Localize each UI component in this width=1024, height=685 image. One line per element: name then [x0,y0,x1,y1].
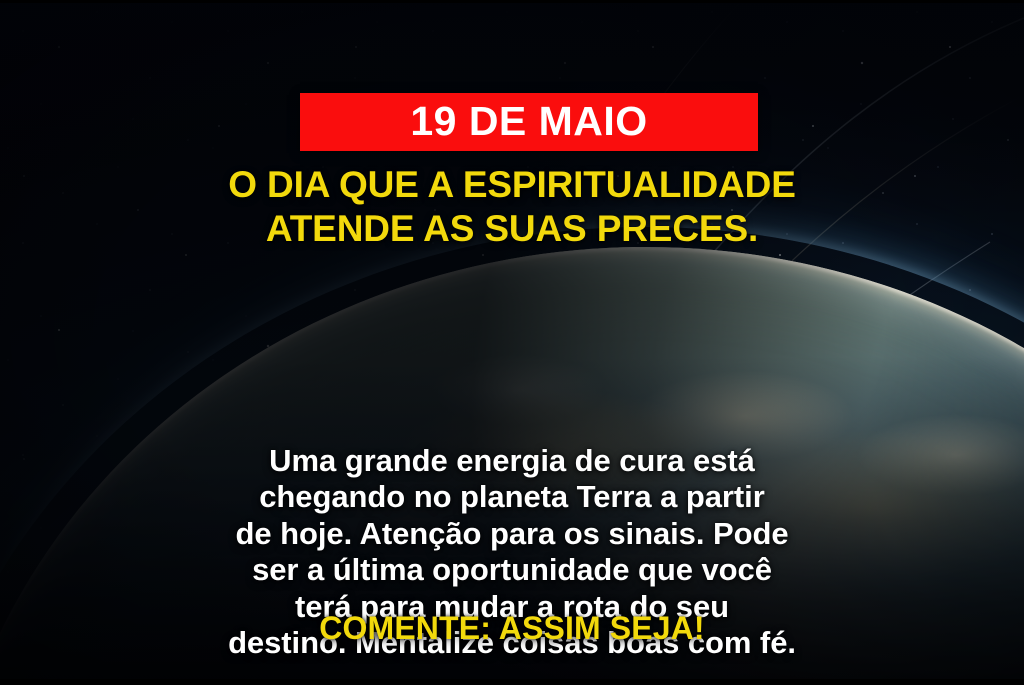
date-banner: 19 DE MAIO [300,93,758,151]
headline-text: O DIA QUE A ESPIRITUALIDADE ATENDE AS SU… [0,163,1024,250]
poster-image: 19 DE MAIO O DIA QUE A ESPIRITUALIDADE A… [0,0,1024,685]
poster-content: 19 DE MAIO O DIA QUE A ESPIRITUALIDADE A… [0,0,1024,685]
date-banner-label: 19 DE MAIO [410,101,647,142]
call-to-action-text: COMENTE: ASSIM SEJA! [0,611,1024,646]
